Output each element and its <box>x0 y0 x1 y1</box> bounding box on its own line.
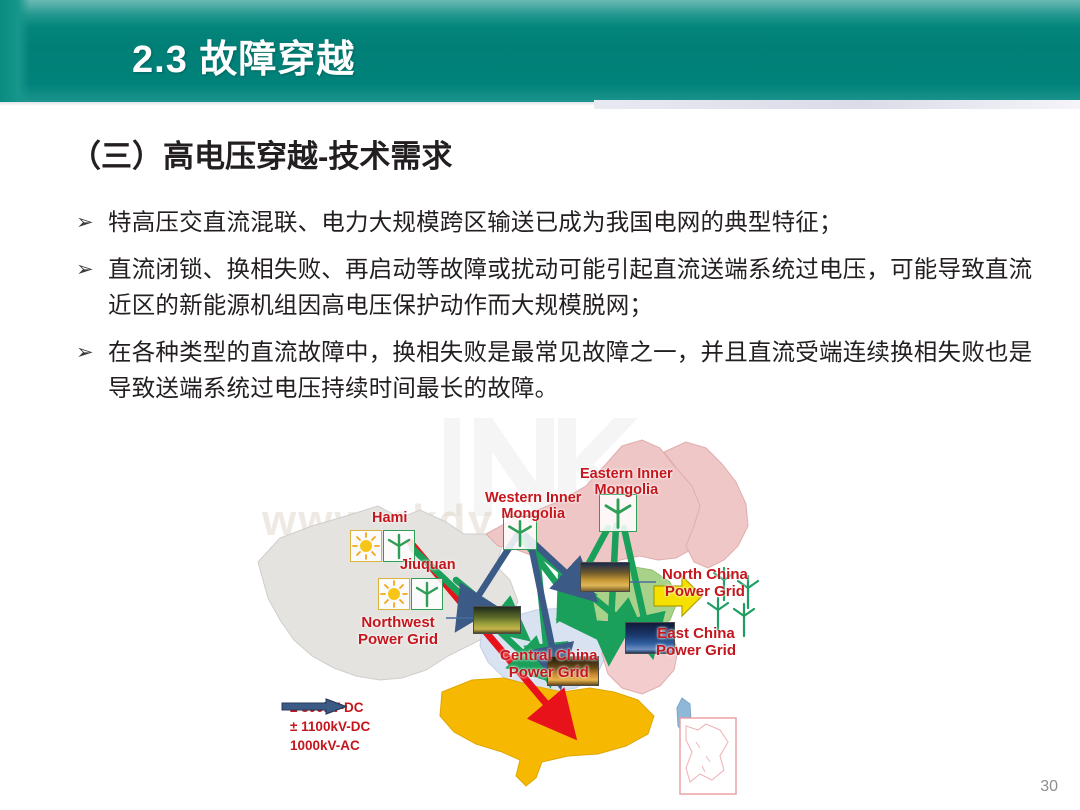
slide-root: 2.3 故障穿越 （三）高电压穿越-技术需求 ➢ 特高压交直流混联、电力大规模跨… <box>0 0 1080 810</box>
map-label-east-china-power-grid: East China Power Grid <box>656 626 736 660</box>
solar-icon-hami <box>350 530 382 562</box>
page-title: 2.3 故障穿越 <box>132 28 355 83</box>
map-label-hami: Hami <box>372 510 407 526</box>
legend-label: 1000kV-AC <box>280 738 510 753</box>
legend-item-ac-1000: 1000kV-AC <box>280 736 510 755</box>
header-underline-bar <box>594 100 1080 109</box>
list-item: ➢ 特高压交直流混联、电力大规模跨区输送已成为我国电网的典型特征； <box>76 204 1036 240</box>
section-heading: （三）高电压穿越-技术需求 <box>70 131 452 176</box>
header-gloss <box>0 0 1080 26</box>
wind-icon-eastern-inner-mongolia <box>599 494 637 532</box>
bullet-arrow-icon: ➢ <box>76 204 108 240</box>
map-label-eastern-inner-mongolia: Eastern Inner Mongolia <box>580 466 673 498</box>
legend-item-dc-1100: ± 1100kV-DC <box>280 717 510 736</box>
list-item: ➢ 在各种类型的直流故障中，换相失败是最常见故障之一，并且直流受端连续换相失败也… <box>76 334 1036 406</box>
header-left-accent-bar <box>0 0 30 102</box>
wind-icon-jiuquan <box>411 578 443 610</box>
bullet-list: ➢ 特高压交直流混联、电力大规模跨区输送已成为我国电网的典型特征； ➢ 直流闭锁… <box>76 204 1036 417</box>
photo-northwest-substation <box>473 606 521 634</box>
photo-north-china-substation <box>580 562 630 592</box>
map-label-north-china-power-grid: North China Power Grid <box>662 567 748 601</box>
map-label-western-inner-mongolia: Western Inner Mongolia <box>485 490 581 522</box>
map-legend: ± 800kV-DC ± 1100kV-DC 1000kV-AC <box>280 698 510 755</box>
slide-header-band: 2.3 故障穿越 <box>0 0 1080 102</box>
bullet-arrow-icon: ➢ <box>76 334 108 370</box>
map-label-central-china-power-grid: Central China Power Grid <box>500 648 598 682</box>
list-item: ➢ 直流闭锁、换相失败、再启动等故障或扰动可能引起直流送端系统过电压，可能导致直… <box>76 251 1036 323</box>
china-power-grid-map: Hami Jiuquan Northwest Power Grid Wester… <box>250 430 820 800</box>
south-china-sea-inset <box>680 718 736 794</box>
bullet-text: 特高压交直流混联、电力大规模跨区输送已成为我国电网的典型特征； <box>108 204 1036 240</box>
bullet-text: 直流闭锁、换相失败、再启动等故障或扰动可能引起直流送端系统过电压，可能导致直流近… <box>108 251 1036 323</box>
map-label-northwest-power-grid: Northwest Power Grid <box>358 615 438 649</box>
legend-arrow-blue-icon <box>280 698 348 715</box>
legend-label: ± 1100kV-DC <box>280 719 510 734</box>
page-number: 30 <box>1040 778 1058 796</box>
solar-icon-jiuquan <box>378 578 410 610</box>
map-label-jiuquan: Jiuquan <box>400 557 456 573</box>
bullet-arrow-icon: ➢ <box>76 251 108 287</box>
bullet-text: 在各种类型的直流故障中，换相失败是最常见故障之一，并且直流受端连续换相失败也是导… <box>108 334 1036 406</box>
